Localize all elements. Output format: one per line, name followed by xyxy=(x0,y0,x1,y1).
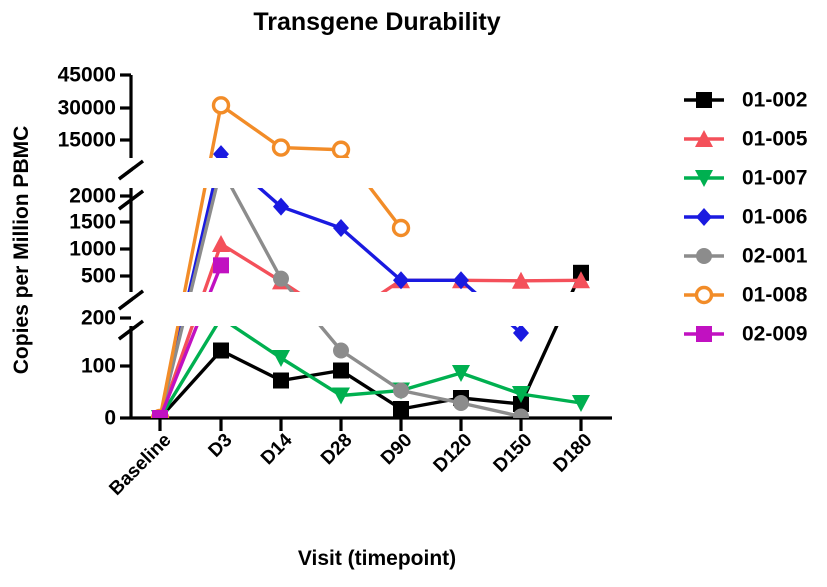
y-tick-label: 100 xyxy=(81,355,116,378)
legend-item-02-001[interactable]: 02-001 xyxy=(684,245,808,268)
y-tick-label: 0 xyxy=(104,407,116,430)
series-01-002 xyxy=(152,265,589,426)
legend-label: 01-008 xyxy=(742,284,808,307)
data-point xyxy=(333,343,349,359)
x-tick-label: D14 xyxy=(257,429,297,469)
y-axis-label: Copies per Million PBMC xyxy=(10,126,33,375)
x-tick-label: D150 xyxy=(490,430,537,477)
data-point xyxy=(696,208,712,226)
y-tick-label: 45000 xyxy=(58,64,116,87)
data-point xyxy=(212,235,230,252)
data-point xyxy=(394,221,409,236)
data-point xyxy=(696,326,712,342)
legend-item-01-005[interactable]: 01-005 xyxy=(684,128,808,151)
data-point xyxy=(453,395,469,411)
x-axis-label: Visit (timepoint) xyxy=(298,547,456,570)
chart-figure: Transgene DurabilityVisit (timepoint)Cop… xyxy=(0,0,827,582)
x-tick-label: D120 xyxy=(430,430,477,477)
y-tick-label: 1500 xyxy=(69,211,116,234)
data-point xyxy=(333,363,349,379)
data-point xyxy=(273,271,289,287)
y-tick-label: 2000 xyxy=(69,185,116,208)
data-point xyxy=(214,98,229,113)
legend-label: 01-002 xyxy=(742,89,807,112)
transgene-durability-chart: Transgene DurabilityVisit (timepoint)Cop… xyxy=(0,0,827,582)
data-point xyxy=(393,401,409,417)
y-tick-label: 500 xyxy=(81,265,116,288)
data-point xyxy=(213,257,229,273)
y-tick-label: 200 xyxy=(81,307,116,330)
x-tick-label: D90 xyxy=(377,430,416,469)
x-tick-label: D180 xyxy=(550,430,597,477)
x-tick-label: D28 xyxy=(317,430,356,469)
legend-label: 02-001 xyxy=(742,245,808,268)
plot-area xyxy=(151,98,590,427)
data-point xyxy=(696,92,712,108)
data-point xyxy=(274,140,289,155)
data-point xyxy=(393,383,409,399)
y-tick-label: 1000 xyxy=(69,238,116,261)
legend-label: 01-007 xyxy=(742,167,807,190)
legend-item-02-009[interactable]: 02-009 xyxy=(684,323,807,346)
x-tick-label: D3 xyxy=(205,430,237,462)
legend-item-01-002[interactable]: 01-002 xyxy=(684,89,807,112)
chart-title: Transgene Durability xyxy=(253,8,500,36)
legend-item-01-007[interactable]: 01-007 xyxy=(684,167,807,190)
legend-item-01-008[interactable]: 01-008 xyxy=(684,284,808,307)
y-tick-label: 15000 xyxy=(58,129,116,152)
y-tick-label: 30000 xyxy=(58,97,116,120)
legend-label: 01-005 xyxy=(742,128,808,151)
axis-break-gap xyxy=(133,292,614,326)
legend-label: 02-009 xyxy=(742,323,807,346)
data-point xyxy=(272,350,290,367)
x-tick-label: Baseline xyxy=(105,430,175,500)
data-point xyxy=(334,142,349,157)
axis-break-gap xyxy=(133,158,614,188)
data-point xyxy=(697,288,712,303)
data-point xyxy=(696,248,712,264)
data-point xyxy=(213,343,229,359)
legend-label: 01-006 xyxy=(742,206,807,229)
legend-item-01-006[interactable]: 01-006 xyxy=(684,206,807,229)
data-point xyxy=(273,373,289,389)
